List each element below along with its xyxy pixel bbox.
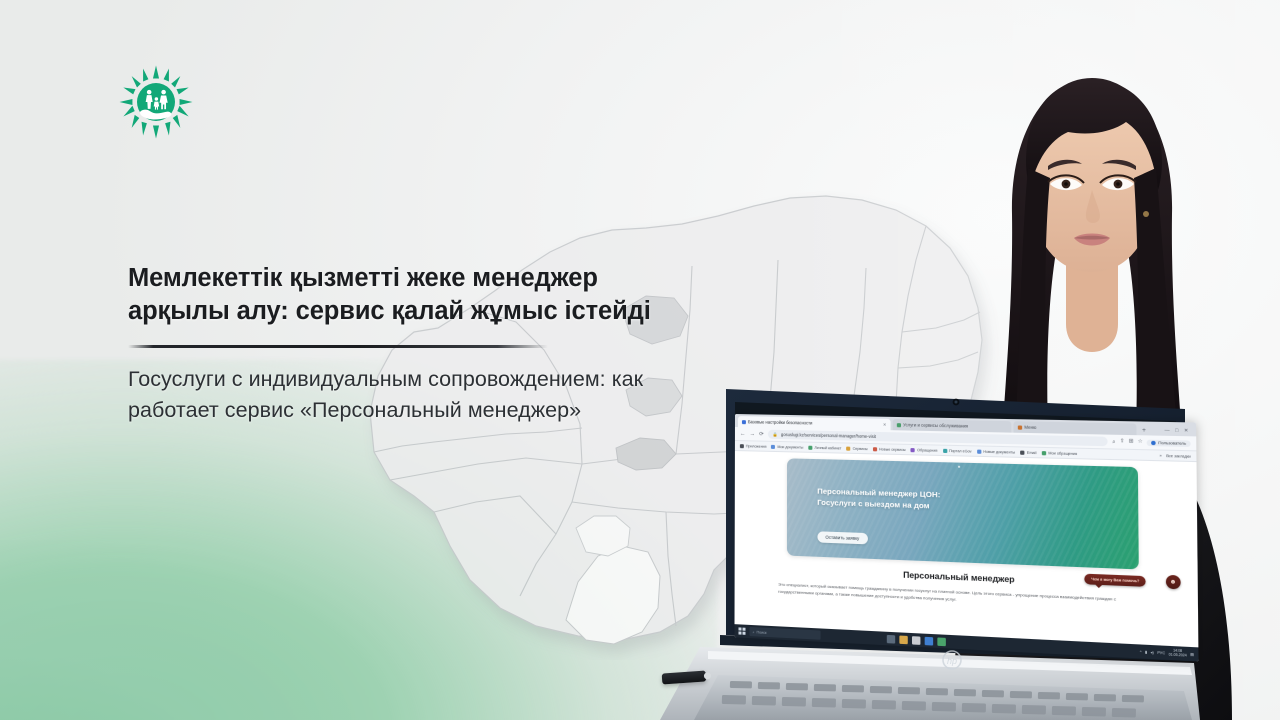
profile-label: Пользователь	[1158, 440, 1186, 445]
forward-icon[interactable]: →	[749, 431, 755, 437]
taskbar-search-input[interactable]: ⌕ Поиск	[750, 627, 821, 640]
web-page: Персональный менеджер ЦОН: Госуслуги с в…	[734, 451, 1198, 661]
omnibar-actions: ⌕ ⇪ ⊞ ☆ Пользователь	[1112, 438, 1190, 446]
browser-tab-2[interactable]: Услуги и сервисы обслуживания	[893, 419, 1012, 433]
reload-icon[interactable]: ⟳	[759, 431, 764, 437]
editor-icon	[937, 637, 946, 646]
bookmarks-overflow[interactable]: » Все закладки	[1160, 453, 1191, 458]
tab-title: Меню	[1024, 425, 1036, 430]
share-icon[interactable]: ⇪	[1120, 439, 1125, 444]
tab-favicon	[742, 420, 746, 424]
chevron-up-icon[interactable]: ^	[1140, 649, 1142, 653]
search-icon: ⌕	[753, 630, 755, 634]
notifications-icon[interactable]: ▤	[1190, 652, 1194, 657]
bookmark-item[interactable]: Портал eGov	[943, 448, 972, 453]
bookmark-item[interactable]: Личный кабинет	[808, 445, 841, 450]
bookmark-item[interactable]: Новые документы	[977, 449, 1015, 454]
bookmark-item[interactable]: Email	[1020, 450, 1036, 455]
tab-favicon	[1018, 425, 1022, 429]
hero-banner: Персональный менеджер ЦОН: Госуслуги с в…	[787, 458, 1139, 569]
lock-icon: 🔒	[773, 431, 778, 437]
bookmark-item[interactable]: Мои документы	[771, 444, 803, 449]
taskbar-clock[interactable]: 14:08 01.05.2024	[1169, 649, 1187, 657]
organization-logo	[118, 64, 194, 140]
hero-indicator	[958, 466, 960, 468]
taskbar-apps[interactable]	[887, 634, 946, 645]
maximize-icon[interactable]: □	[1175, 427, 1178, 433]
taskbar-tray[interactable]: ^ ▮ ◂) РУС 14:08 01.05.2024 ▤	[1140, 648, 1194, 658]
clock-date: 01.05.2024	[1169, 653, 1187, 658]
profile-chip[interactable]: Пользователь	[1147, 439, 1191, 446]
mail-icon	[912, 636, 920, 645]
headline-kk: Мемлекеттік қызметті жеке менеджер арқыл…	[128, 262, 668, 328]
close-window-icon[interactable]: ✕	[1184, 428, 1188, 434]
subheadline-ru: Госуслуги с индивидуальным сопровождение…	[128, 364, 668, 425]
new-tab-button[interactable]: +	[1139, 428, 1150, 436]
tab-title: Услуги и сервисы обслуживания	[903, 422, 968, 428]
bookmark-item[interactable]: Обращения	[911, 448, 938, 453]
bookmark-item[interactable]: Новые сервисы	[873, 447, 906, 452]
hero-cta-button[interactable]: Оставить заявку	[817, 531, 867, 544]
file-explorer-icon	[887, 634, 895, 643]
poster-canvas: Мемлекеттік қызметті жеке менеджер арқыл…	[0, 0, 1280, 720]
bookmark-item[interactable]: Сервисы	[846, 446, 867, 451]
avatar	[1152, 440, 1157, 444]
bookmark-item[interactable]: Приложения	[740, 444, 766, 449]
folder-icon	[899, 635, 907, 644]
minimize-icon[interactable]: —	[1164, 427, 1169, 433]
text-block: Мемлекеттік қызметті жеке менеджер арқыл…	[128, 262, 668, 425]
star-icon[interactable]: ☆	[1138, 439, 1143, 444]
all-bookmarks-label: Все закладки	[1166, 453, 1191, 458]
support-agent-icon[interactable]: ☻	[1166, 575, 1181, 590]
browser-icon	[925, 636, 933, 645]
language-icon[interactable]: РУС	[1157, 650, 1165, 655]
tab-close-icon[interactable]: ✕	[883, 422, 886, 427]
volume-icon[interactable]: ◂)	[1150, 650, 1153, 654]
bookmark-item[interactable]: Мои обращения	[1042, 451, 1077, 456]
tab-title: Базовые настройки безопасности	[748, 419, 812, 425]
window-controls[interactable]: — □ ✕	[1164, 427, 1192, 436]
title-divider	[128, 345, 548, 348]
svg-text:hp: hp	[947, 656, 957, 666]
search-icon[interactable]: ⌕	[1112, 438, 1115, 444]
extensions-icon[interactable]: ⊞	[1129, 439, 1134, 444]
network-icon[interactable]: ▮	[1145, 650, 1147, 654]
tab-favicon	[897, 423, 901, 427]
windows-start-icon[interactable]	[738, 627, 745, 634]
back-icon[interactable]: ←	[740, 431, 746, 437]
url-text: gosuslugi.kz/services/personal-manager/h…	[781, 432, 876, 439]
hero-title: Персональный менеджер ЦОН: Госуслуги с в…	[817, 487, 940, 513]
laptop-screen[interactable]: Базовые настройки безопасности ✕ Услуги …	[734, 414, 1198, 661]
search-placeholder: Поиск	[757, 630, 767, 635]
